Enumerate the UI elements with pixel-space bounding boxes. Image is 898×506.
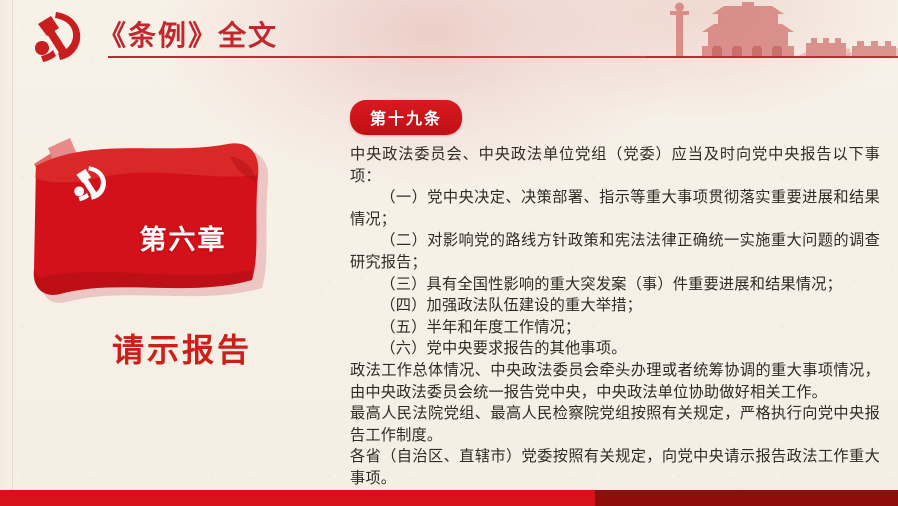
- chapter-title-caption: 请示报告: [82, 325, 282, 371]
- article-body-text: 中央政法委员会、中央政法单位党组（党委）应当及时向党中央报告以下事项：（一）党中…: [350, 144, 880, 490]
- article-paragraph: （三）具有全国性影响的重大突发案（事）件重要进展和结果情况；: [350, 274, 880, 296]
- article-paragraph: 政法工作总体情况、中央政法委员会牵头办理或者统筹协调的重大事项情况，由中央政法委…: [350, 360, 880, 403]
- slide-root: 《条例》全文: [0, 0, 898, 506]
- article-paragraph: （六）党中央要求报告的其他事项。: [350, 338, 880, 360]
- article-paragraph: （四）加强政法队伍建设的重大举措；: [350, 295, 880, 317]
- article-number-badge: 第十九条: [350, 100, 462, 135]
- footer-bar-right-segment: [595, 490, 898, 506]
- footer-bar: [0, 490, 898, 506]
- chapter-flag-block: 第六章 请示报告: [22, 120, 322, 385]
- chapter-number-label: 第六章: [108, 218, 258, 257]
- hammer-and-sickle-emblem-icon: [26, 6, 90, 66]
- article-paragraph: （二）对影响党的路线方针政策和宪法法律正确统一实施重大问题的调查研究报告；: [350, 230, 880, 273]
- slide-header: 《条例》全文: [0, 0, 898, 72]
- footer-bar-left-segment: [0, 490, 595, 506]
- left-edge-band: [0, 0, 13, 506]
- page-title: 《条例》全文: [98, 14, 278, 54]
- article-paragraph: （一）党中央决定、决策部署、指示等重大事项贯彻落实重要进展和结果情况；: [350, 187, 880, 230]
- article-paragraph: 中央政法委员会、中央政法单位党组（党委）应当及时向党中央报告以下事项：: [350, 144, 880, 187]
- article-content: 第十九条 中央政法委员会、中央政法单位党组（党委）应当及时向党中央报告以下事项：…: [350, 100, 880, 490]
- article-paragraph: 最高人民法院党组、最高人民检察院党组按照有关规定，严格执行向党中央报告工作制度。: [350, 403, 880, 446]
- tiananmen-great-wall-skyline-icon: [646, 0, 898, 60]
- article-paragraph: 各省（自治区、直辖市）党委按照有关规定，向党中央请示报告政法工作重大事项。: [350, 446, 880, 489]
- article-paragraph: （五）半年和年度工作情况；: [350, 317, 880, 339]
